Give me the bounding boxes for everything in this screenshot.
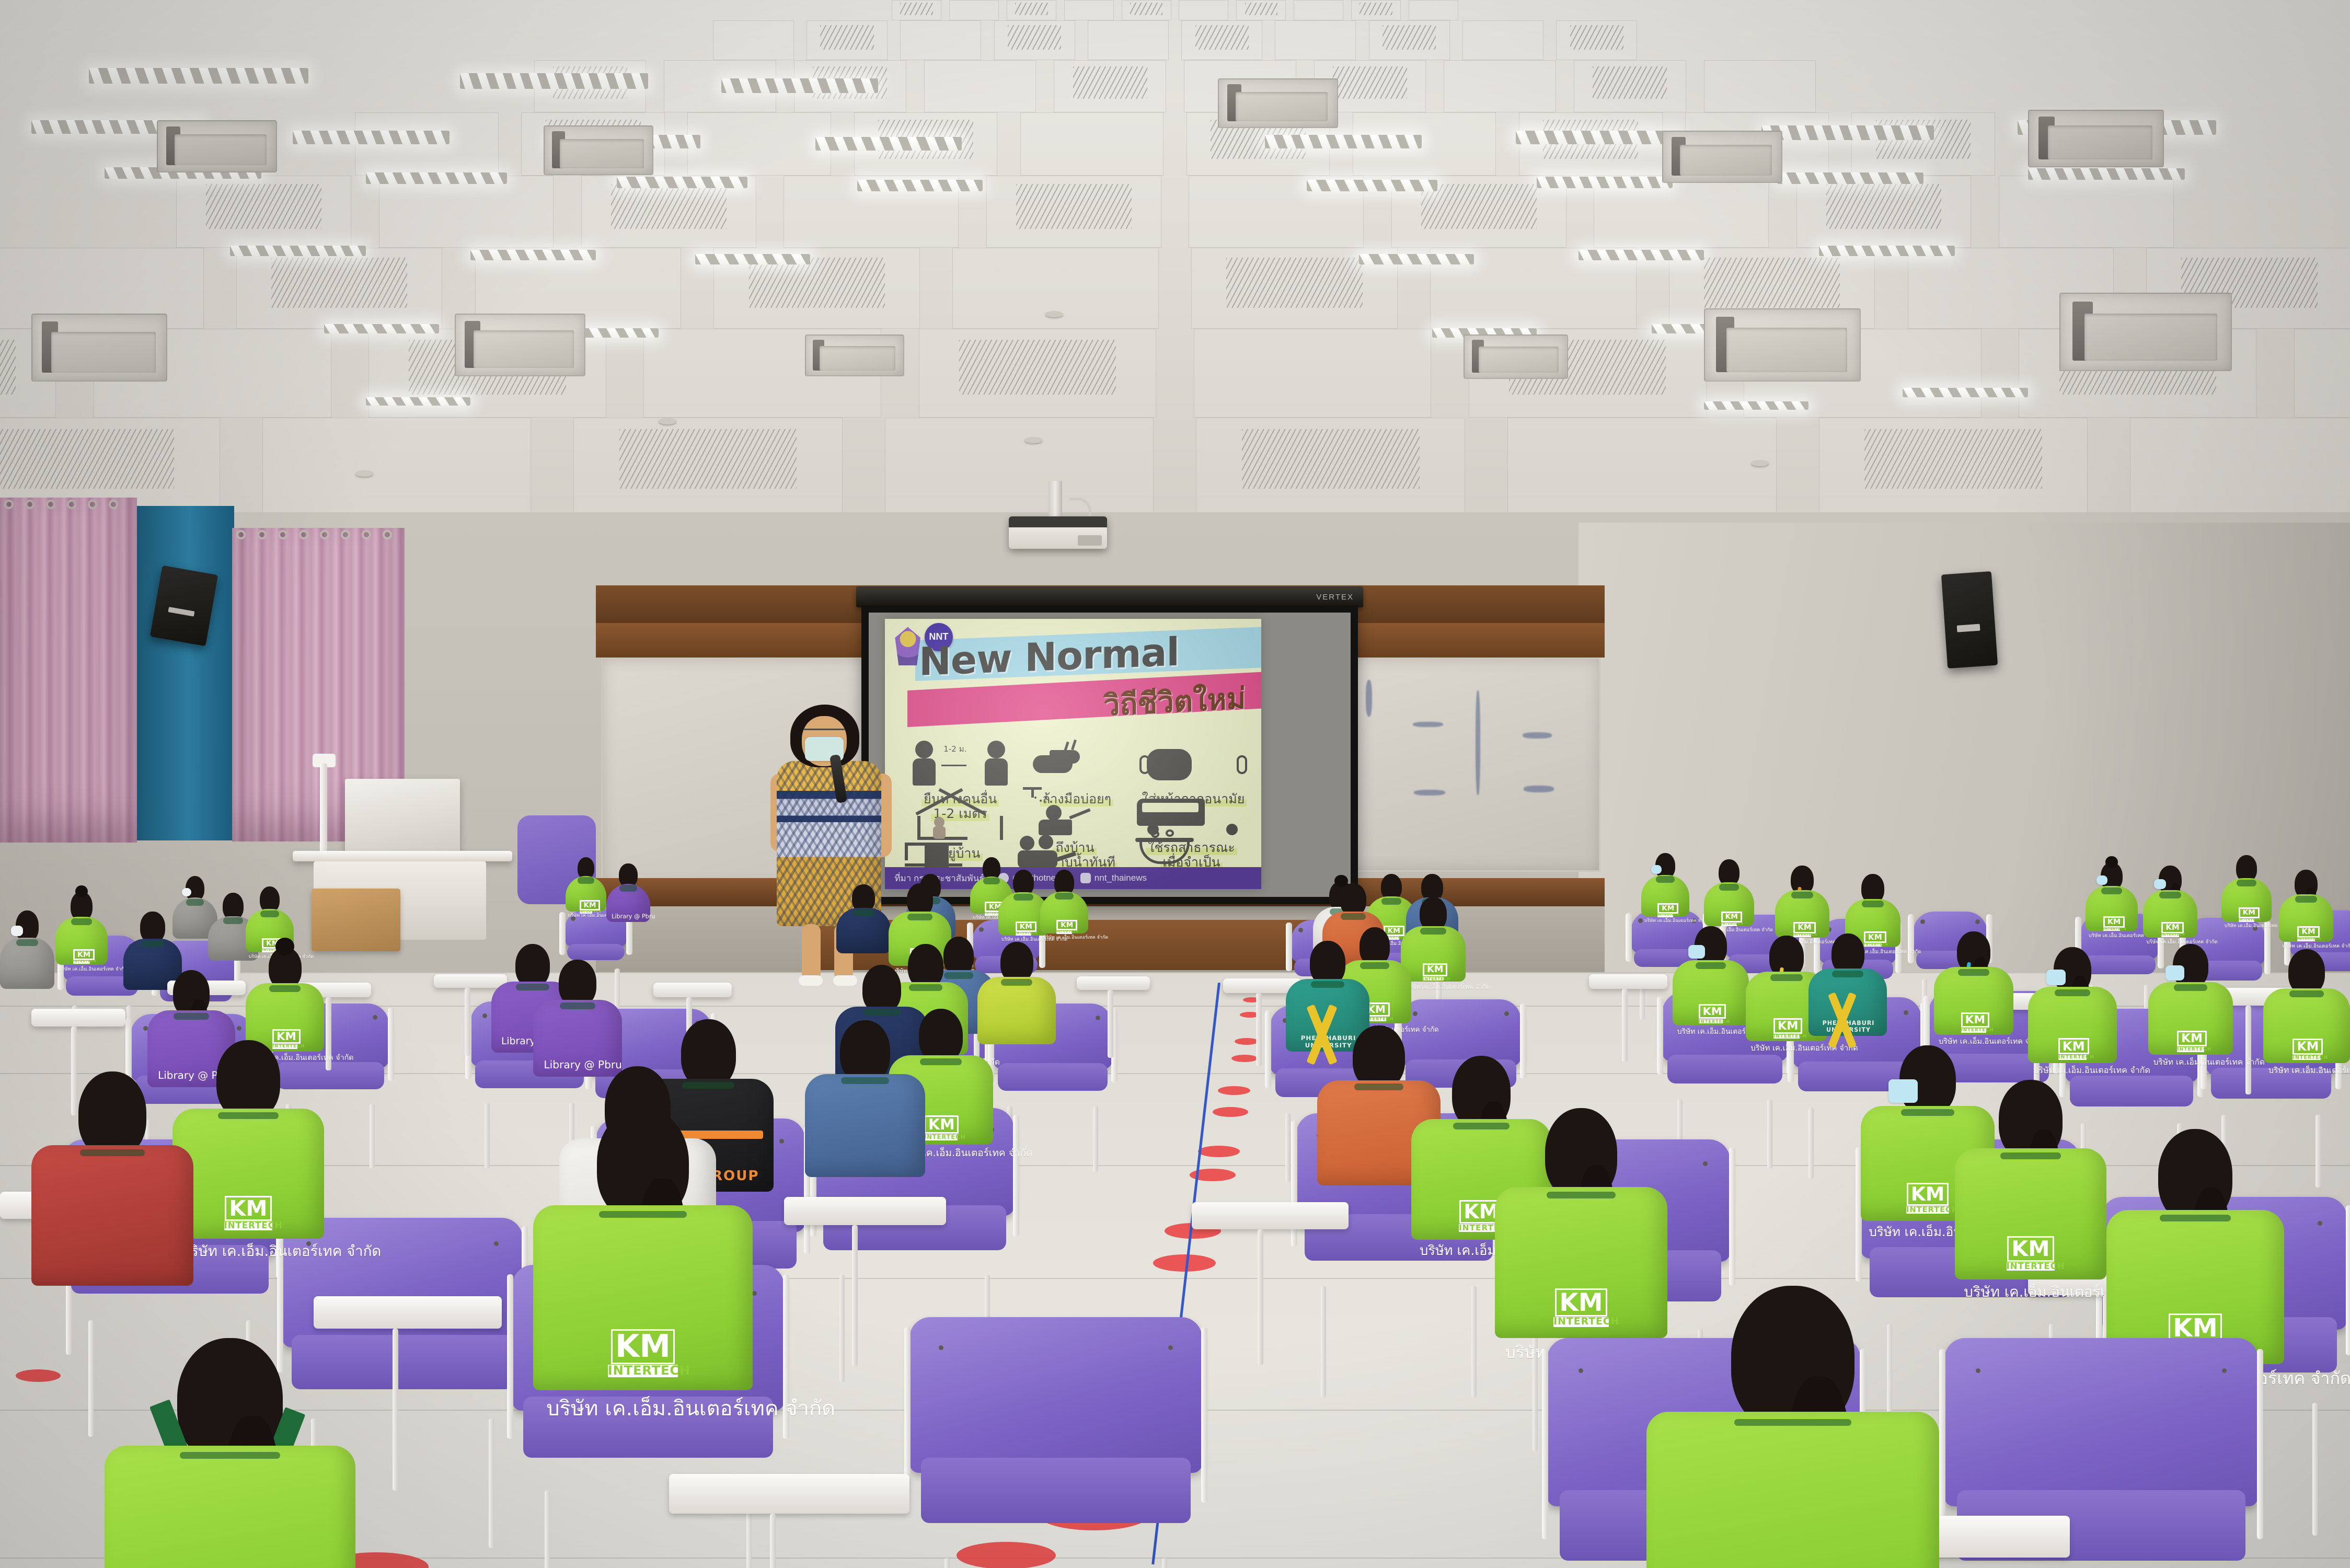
km-logo-sub: INTERTECH — [1906, 1206, 1949, 1214]
km-logo-text: KM — [924, 1115, 959, 1134]
head — [1353, 1025, 1404, 1089]
shirt-collar — [1791, 892, 1813, 898]
km-logo: KM INTERTECH — [1423, 963, 1444, 981]
audience-member: KM INTERTECH บริษัท เค.เอ็ม.อินเตอร์เทค … — [1775, 866, 1829, 938]
chair-leg-left — [1321, 1286, 1326, 1397]
torso: KM INTERTECH บริษัท เค.เอ็ม.อินเตอร์เทค … — [1775, 890, 1829, 938]
shirt-collar — [71, 918, 92, 925]
audience-member: KM INTERTECH บริษัท เค.เอ็ม.อินเตอร์เทค … — [172, 1040, 324, 1239]
shirt-collar — [1656, 876, 1675, 883]
km-logo: KM INTERTECH — [2293, 1039, 2320, 1060]
chair-leg-left — [88, 1320, 94, 1437]
km-logo-text: KM — [1056, 920, 1077, 931]
km-logo-text: KM — [580, 900, 601, 911]
km-logo: KM INTERTECH — [73, 949, 90, 964]
km-logo: KM INTERTECH — [2103, 916, 2120, 931]
km-logo-text: KM — [1773, 1018, 1802, 1033]
head — [919, 1009, 963, 1063]
torso: KM INTERTECH บริษัท เค.เอ็ม.อินเตอร์เทค … — [1495, 1187, 1667, 1338]
km-logo: KM INTERTECH — [1056, 920, 1072, 934]
chair-leg-right — [2312, 1403, 2318, 1536]
km-logo-text: KM — [1793, 922, 1815, 933]
shirt-collar — [2237, 880, 2256, 886]
shower-on-arrival-icon — [1017, 786, 1133, 836]
audience-member: PHETCHABURI UNIVERSITY — [1808, 933, 1887, 1036]
km-logo-text: KM — [225, 1196, 271, 1221]
audience-member: KM INTERTECH บริษัท เค.เอ็ม.อินเตอร์เทค … — [533, 1108, 753, 1390]
shirt-collar — [1547, 1192, 1616, 1198]
shirt-collar — [1734, 1419, 1851, 1426]
km-logo: KM INTERTECH — [1721, 912, 1737, 926]
audience-member: KM INTERTECH บริษัท เค.เอ็ม.อินเตอร์เทค … — [1495, 1108, 1667, 1338]
torso: KM INTERTECH บริษัท เค.เอ็ม.อินเตอร์เทค … — [1934, 967, 2013, 1035]
km-thai-text: บริษัท เค.เอ็ม.อินเตอร์เทค จำกัด — [59, 965, 105, 973]
instagram-handle-text: nnt_thainews — [1095, 873, 1147, 883]
torso: KM INTERTECH บริษัท เค.เอ็ม.อินเตอร์เทค … — [55, 917, 108, 965]
km-logo: KM INTERTECH — [2161, 922, 2179, 937]
shirt-collar — [80, 1149, 145, 1156]
shirt-collar — [560, 1002, 595, 1009]
km-thai-text: บริษัท เค.เอ็ม.อินเตอร์เทค จำกัด — [2089, 932, 2135, 940]
head — [78, 1071, 146, 1157]
chair-seat — [1667, 1055, 1783, 1084]
km-logo: KM INTERTECH — [924, 1115, 958, 1140]
shirt-collar — [853, 909, 874, 916]
km-logo-text: KM — [73, 949, 95, 960]
hair-bun — [2105, 856, 2118, 868]
head — [840, 1020, 891, 1083]
km-thai-text: บริษัท เค.เอ็ม.อินเตอร์เทค จำกัด — [1750, 1042, 1822, 1054]
km-logo-sub: INTERTECH — [1423, 977, 1444, 981]
presenter-left-shoe — [799, 975, 823, 986]
chair-seat — [567, 944, 625, 960]
chair-leg-right — [370, 1104, 375, 1169]
tablet-arm-desk[interactable] — [1192, 1202, 1349, 1229]
shirt-collar — [841, 1077, 889, 1084]
curtain-grommets-left — [0, 498, 137, 511]
presenter-left-leg — [802, 924, 821, 981]
audience-member: KM INTERTECH บริษัท เค.เอ็ม.อินเตอร์เทค … — [2086, 862, 2138, 931]
tablet-arm-support — [1256, 993, 1262, 1066]
shirt-collar — [983, 878, 1000, 884]
shirt-collar — [180, 1452, 280, 1459]
chair-back — [1944, 1338, 2258, 1506]
chair-leg-left — [545, 1491, 550, 1568]
projector-mount — [1049, 481, 1062, 522]
projection-screen-surface: NNT New Normal วิถีชีวิตใหม่ 1-2 ม. ยืนห… — [869, 613, 1351, 897]
tablet-arm-desk[interactable] — [1077, 976, 1150, 990]
torso — [0, 938, 54, 989]
km-logo: KM INTERTECH — [2058, 1038, 2087, 1060]
audience-member: Library @ Pbru — [606, 863, 650, 922]
torso — [31, 1145, 193, 1286]
audience-member: KM INTERTECH บริษัท เค.เอ็ม.อินเตอร์เทค … — [2148, 944, 2233, 1055]
shirt-collar — [1001, 979, 1032, 986]
chair-frame-left — [1939, 1349, 1945, 1539]
chair-frame-left — [1542, 1349, 1548, 1539]
km-logo-text: KM — [1961, 1012, 1989, 1028]
torso: KM INTERTECH บริษัท เค.เอ็ม.อินเตอร์เทค … — [1673, 960, 1749, 1025]
tablet-arm-support — [1622, 989, 1628, 1062]
torso — [805, 1074, 925, 1177]
chair-leg-right — [1767, 1099, 1772, 1169]
tablet-arm-desk[interactable] — [653, 983, 732, 997]
audience-member: KM INTERTECH บริษัท เค.เอ็ม.อินเตอร์เทค … — [1955, 1080, 2106, 1279]
cooked-food-bowl-icon — [1126, 829, 1254, 871]
km-logo-sub: INTERTECH — [924, 1134, 958, 1140]
km-logo-sub: INTERTECH — [1553, 1317, 1609, 1327]
km-logo-sub: INTERTECH — [73, 961, 90, 964]
shirt-collar — [2160, 1215, 2231, 1221]
shirt-collar — [907, 914, 932, 920]
km-logo-text: KM — [1721, 912, 1742, 923]
km-logo-text: KM — [2103, 916, 2125, 927]
shirt-collar — [1832, 971, 1863, 977]
audience-member: KM INTERTECH บริษัท เค.เอ็ม.อินเตอร์เทค … — [1704, 859, 1754, 926]
km-logo-text: KM — [611, 1329, 675, 1364]
torso: Library @ Pbru — [606, 884, 650, 922]
projection-screen-case: VERTEX — [856, 586, 1363, 607]
audience-member: KM INTERTECH บริษัท เค.เอ็ม.อินเตอร์เทค … — [566, 857, 606, 912]
km-logo: KM INTERTECH — [1553, 1288, 1609, 1327]
instagram-handle: nnt_thainews — [1080, 873, 1147, 883]
shirt-collar — [1311, 981, 1344, 988]
shirt-collar — [619, 885, 637, 892]
chair-leg-right — [1093, 1106, 1098, 1172]
audience-member: KM INTERTECH บริษัท เค.เอ็ม.อินเตอร์เทค … — [246, 947, 324, 1052]
torso: KM INTERTECH บริษัท เค.เอ็ม.อินเตอร์เทค … — [1040, 892, 1088, 933]
shirt-collar — [1696, 962, 1726, 969]
desktop-monitor — [345, 779, 460, 857]
shirt-collar — [2101, 887, 2122, 894]
shirt-collar — [1958, 969, 1990, 976]
km-logo-text: KM — [1699, 1004, 1726, 1019]
chair-frame-right — [1729, 1147, 1735, 1286]
curtain-grommets-right — [232, 528, 405, 541]
shirt-collar — [2159, 892, 2181, 898]
km-logo-text: KM — [2297, 926, 2319, 938]
library-pbru-text: Library @ Pbru — [612, 913, 655, 920]
surgical-mask — [1688, 945, 1705, 959]
km-logo-text: KM — [2177, 1031, 2207, 1046]
km-thai-text: บริษัท เค.เอ็ม.อินเตอร์เทค จำกัด — [1964, 1281, 2097, 1304]
shirt-collar — [16, 939, 38, 946]
km-logo: KM INTERTECH — [2239, 907, 2255, 921]
km-logo-sub: INTERTECH — [608, 1365, 678, 1377]
torso: KM INTERTECH บริษัท เค.เอ็ม.อินเตอร์เทค … — [172, 1109, 324, 1239]
surgical-mask — [2046, 970, 2066, 985]
chair-leg-left — [1285, 1113, 1291, 1182]
km-thai-text: บริษัท เค.เอ็ม.อินเตอร์เทค จำกัด — [568, 912, 604, 919]
right-wall-speaker — [1941, 571, 1998, 668]
glasses-icon — [804, 729, 845, 735]
km-logo-sub: INTERTECH — [1721, 923, 1737, 926]
torso: KM INTERTECH บริษัท เค.เอ็ม.อินเตอร์เทค … — [566, 876, 606, 912]
km-logo-text: KM — [1423, 963, 1447, 976]
shirt-collar — [2000, 1152, 2061, 1159]
audience-member: KM INTERTECH บริษัท เค.เอ็ม.อินเตอร์เทค … — [2279, 870, 2333, 942]
hair-bun — [275, 938, 294, 955]
shirt-collar — [1719, 884, 1739, 891]
seminar-room-photo: VERTEX NNT New Normal วิถีชีวิตใหม่ — [0, 0, 2350, 1568]
chair-seat — [998, 1063, 1108, 1091]
slide-subtitle: วิถีชีวิตใหม่ — [1103, 675, 1246, 729]
km-logo: KM INTERTECH — [2297, 926, 2314, 941]
km-logo: KM INTERTECH — [1906, 1183, 1949, 1214]
shirt-collar — [920, 1058, 962, 1065]
screen-brand-label: VERTEX — [1316, 593, 1354, 602]
washing-hands-icon — [1020, 737, 1133, 788]
public-bus-icon — [1130, 786, 1253, 836]
audience-member: KM INTERTECH บริษัท เค.เอ็ม.อินเตอร์เทค … — [2221, 855, 2272, 922]
chair-leg-right — [2316, 1115, 2321, 1187]
shirt-collar — [141, 940, 165, 947]
km-logo: KM INTERTECH — [2007, 1236, 2055, 1271]
chair-frame-left — [1657, 997, 1663, 1075]
audience-member: KM INTERTECH บริษัท เค.เอ็ม.อินเตอร์เทค … — [105, 1338, 355, 1568]
tablet-arm-support — [465, 988, 470, 1056]
face-mask-icon — [1133, 737, 1253, 788]
auditorium-chair[interactable] — [909, 1317, 1202, 1568]
projection-screen: NNT New Normal วิถีชีวิตใหม่ 1-2 ม. ยืนห… — [861, 605, 1358, 904]
km-thai-text: บริษัท เค.เอ็ม.อินเตอร์เทค จำกัด — [546, 1391, 740, 1425]
km-logo: KM INTERTECH — [1699, 1004, 1723, 1023]
km-logo-sub: INTERTECH — [2239, 919, 2255, 921]
km-logo-sub: INTERTECH — [2007, 1262, 2055, 1271]
shirt-collar — [578, 877, 594, 884]
audience-member: KM INTERTECH บริษัท เค.เอ็ม.อินเตอร์เทค … — [55, 892, 108, 965]
whiteboard-right — [1333, 658, 1600, 872]
surgical-mask — [2165, 965, 2184, 981]
km-logo: KM INTERTECH — [1016, 921, 1032, 936]
torso: KM INTERTECH บริษัท เค.เอ็ม.อินเตอร์เทค … — [2279, 894, 2333, 942]
shirt-collar — [2174, 984, 2208, 991]
head — [216, 1040, 280, 1120]
torso — [836, 908, 891, 953]
tablet-arm-support — [1108, 990, 1113, 1058]
km-thai-text: บริษัท เค.เอ็ม.อินเตอร์เทค จำกัด — [1043, 933, 1086, 941]
two-people-distance-icon: 1-2 ม. — [904, 737, 1017, 788]
shirt-collar — [1341, 913, 1365, 920]
shirt-collar — [269, 985, 301, 992]
blue-column — [135, 506, 234, 840]
km-logo-sub: INTERTECH — [2161, 934, 2179, 937]
torso: KM INTERTECH บริษัท เค.เอ็ม.อินเตอร์เทค … — [2028, 987, 2117, 1063]
surgical-mask — [1888, 1079, 1918, 1103]
head — [862, 965, 902, 1013]
km-logo-sub: INTERTECH — [224, 1221, 273, 1230]
chair-frame-right — [1013, 1115, 1019, 1236]
km-logo: KM INTERTECH — [1773, 1018, 1800, 1039]
km-logo: KM INTERTECH — [224, 1196, 273, 1230]
chair-seat — [921, 1458, 1190, 1523]
km-logo-sub: INTERTECH — [2058, 1055, 2087, 1060]
curtain-left — [0, 498, 137, 843]
chair-frame-right — [2257, 1349, 2263, 1539]
km-logo-sub: INTERTECH — [2103, 928, 2120, 931]
shirt-collar — [218, 1112, 279, 1119]
chair-leg-left — [944, 1558, 950, 1568]
torso: KM INTERTECH บริษัท เค.เอ็ม.อินเตอร์เทค … — [2086, 886, 2138, 931]
km-logo-text: KM — [2007, 1236, 2054, 1261]
tablet-arm-desk[interactable] — [31, 1009, 125, 1027]
km-thai-text: บริษัท เค.เอ็ม.อินเตอร์เทค จำกัด — [2153, 1055, 2228, 1068]
chair-frame-left — [507, 1274, 513, 1439]
stay-home-icon — [904, 792, 1017, 842]
cardboard-box — [312, 889, 400, 951]
audience-member — [31, 1071, 193, 1286]
torso: Library @ Pbru — [533, 1000, 622, 1077]
audience-member: KM INTERTECH บริษัท เค.เอ็ม.อินเตอร์เทค … — [1673, 926, 1749, 1025]
torso: KM INTERTECH บริษัท เค.เอ็ม.อินเตอร์เทค … — [533, 1205, 753, 1390]
chair-leg-right — [489, 1419, 494, 1548]
surgical-mask — [1651, 865, 1662, 874]
chair-leg-left — [1808, 1108, 1814, 1179]
torso: KM INTERTECH บริษัท เค.เอ็ม.อินเตอร์เทค … — [1955, 1148, 2106, 1279]
av-desk-top — [293, 851, 512, 861]
chair-leg-right — [1162, 1558, 1167, 1568]
torso: KM INTERTECH บริษัท เค.เอ็ม.อินเตอร์เทค … — [1704, 882, 1754, 926]
km-logo-sub: INTERTECH — [1016, 932, 1032, 935]
chair-back — [909, 1317, 1202, 1473]
shirt-collar — [1381, 898, 1401, 905]
chair-frame-left — [1265, 1010, 1271, 1089]
tablet-arm-desk[interactable] — [314, 1296, 502, 1329]
audience-member: KM INTERTECH บริษัท เค.เอ็ม.อินเตอร์เทค … — [1646, 1286, 1939, 1568]
km-logo-text: KM — [1657, 903, 1678, 914]
km-thai-text: บริษัท เค.เอ็ม.อินเตอร์เทค จำกัด — [181, 1240, 315, 1263]
chair-leg-right — [1471, 1286, 1477, 1397]
audience-member: KM INTERTECH บริษัท เค.เอ็ม.อินเตอร์เทค … — [2106, 1129, 2284, 1364]
km-logo: KM INTERTECH — [2177, 1031, 2204, 1052]
gooseneck-microphone-stand — [320, 763, 327, 862]
chair-frame-left — [1626, 913, 1632, 961]
shirt-collar — [174, 1013, 209, 1020]
shirt-collar — [1055, 893, 1074, 900]
km-thai-text: บริษัท เค.เอ็ม.อินเตอร์เทค จำกัด — [1644, 917, 1687, 924]
km-logo-sub: INTERTECH — [1961, 1028, 1987, 1033]
tablet-arm-support — [393, 1329, 398, 1491]
shirt-collar — [1901, 1109, 1954, 1116]
km-logo-sub: INTERTECH — [2297, 938, 2314, 941]
audience-member: KM INTERTECH บริษัท เค.เอ็ม.อินเตอร์เทค … — [1641, 853, 1689, 917]
km-thai-text: บริษัท เค.เอ็ม.อินเตอร์เทค จำกัด — [2033, 1064, 2112, 1077]
audience-member: KM INTERTECH บริษัท เค.เอ็ม.อินเตอร์เทค … — [2028, 947, 2117, 1063]
shirt-collar — [223, 917, 243, 924]
chair-frame-right — [388, 1008, 394, 1081]
km-thai-text: บริษัท เค.เอ็ม.อินเตอร์เทค จำกัด — [1677, 1026, 1744, 1037]
km-thai-text: บริษัท เค.เอ็ม.อินเตอร์เทค จำกัด — [2225, 923, 2268, 930]
torso: KM INTERTECH บริษัท เค.เอ็ม.อินเตอร์เทค … — [2221, 878, 2272, 922]
km-logo-sub: INTERTECH — [1699, 1019, 1723, 1023]
presentation-slide: NNT New Normal วิถีชีวิตใหม่ 1-2 ม. ยืนห… — [885, 619, 1261, 889]
km-logo-text: KM — [2239, 907, 2260, 918]
km-thai-text: บริษัท เค.เอ็ม.อินเตอร์เทค จำกัด — [1404, 982, 1461, 992]
hair-bun — [75, 885, 88, 898]
audience-member: KM INTERTECH บริษัท เค.เอ็ม.อินเตอร์เทค … — [2263, 949, 2350, 1063]
torso: KM INTERTECH บริษัท เค.เอ็ม.อินเตอร์เทค … — [2263, 988, 2350, 1063]
surgical-mask — [11, 926, 23, 936]
audience-member — [0, 910, 54, 989]
shirt-collar — [1420, 928, 1446, 935]
shirt-collar — [2295, 896, 2317, 903]
km-logo-text: KM — [1016, 921, 1036, 932]
shirt-collar — [2055, 989, 2090, 996]
audience-member — [805, 1020, 925, 1177]
km-logo-text: KM — [2058, 1038, 2089, 1054]
shirt-collar — [1354, 1083, 1403, 1090]
ceiling-projector — [1009, 516, 1107, 549]
shirt-collar — [2289, 990, 2324, 997]
audience-member: Library @ Pbru — [533, 960, 622, 1077]
torso: KM INTERTECH บริษัท เค.เอ็ม.อินเตอร์เทค … — [1646, 1412, 1939, 1568]
torso: KM INTERTECH บริษัท เค.เอ็ม.อินเตอร์เทค … — [1641, 875, 1689, 917]
chair-frame-right — [2346, 1205, 2350, 1355]
tablet-arm-desk[interactable] — [669, 1474, 909, 1514]
km-logo-text: KM — [1907, 1183, 1949, 1205]
km-logo-sub: INTERTECH — [1773, 1034, 1800, 1039]
torso: PHETCHABURI UNIVERSITY — [1808, 969, 1887, 1036]
shirt-collar — [260, 910, 280, 917]
km-thai-text: บริษัท เค.เอ็ม.อินเตอร์เทค จำกัด — [2268, 1064, 2345, 1077]
tablet-arm-support — [770, 1514, 776, 1568]
km-logo-text: KM — [1555, 1288, 1607, 1317]
shirt-collar — [1770, 974, 1803, 981]
shirt-collar — [186, 899, 204, 906]
km-logo-text: KM — [2293, 1039, 2323, 1055]
km-logo: KM INTERTECH — [608, 1329, 678, 1377]
audience-member: KM INTERTECH บริษัท เค.เอ็ม.อินเตอร์เทค … — [1040, 870, 1088, 933]
torso: KM INTERTECH บริษัท เค.เอ็ม.อินเตอร์เทค … — [105, 1446, 355, 1568]
audience-member: KM INTERTECH บริษัท เค.เอ็ม.อินเตอร์เทค … — [2143, 866, 2197, 938]
shirt-collar — [1862, 901, 1884, 907]
chair-frame-right — [1201, 1327, 1207, 1503]
tablet-arm-support — [2245, 1006, 2251, 1094]
surgical-mask — [2154, 879, 2166, 889]
shirt-collar — [599, 1211, 687, 1218]
chair-leg-left — [485, 1103, 490, 1168]
tablet-arm-support — [1258, 1229, 1263, 1365]
km-logo-text: KM — [2161, 922, 2183, 933]
shirt-collar — [1013, 894, 1033, 901]
km-logo: KM INTERTECH — [1961, 1012, 1987, 1032]
km-logo: KM INTERTECH — [1657, 903, 1673, 917]
torso: KM INTERTECH บริษัท เค.เอ็ม.อินเตอร์เทค … — [2143, 890, 2197, 938]
km-logo-sub: INTERTECH — [2177, 1047, 2204, 1052]
torso: KM INTERTECH บริษัท เค.เอ็ม.อินเตอร์เทค … — [2148, 982, 2233, 1055]
audience-member — [836, 884, 891, 953]
audience-member: KM INTERTECH บริษัท เค.เอ็ม.อินเตอร์เทค … — [1934, 931, 2013, 1035]
tablet-arm-support — [852, 1225, 858, 1366]
surgical-mask — [2096, 875, 2108, 885]
km-logo-sub: INTERTECH — [2293, 1055, 2320, 1060]
tablet-arm-desk[interactable] — [1589, 974, 1667, 989]
chair-leg-left — [839, 1275, 845, 1382]
chair-frame-left — [1908, 914, 1914, 963]
tablet-arm-desk[interactable] — [784, 1197, 946, 1225]
